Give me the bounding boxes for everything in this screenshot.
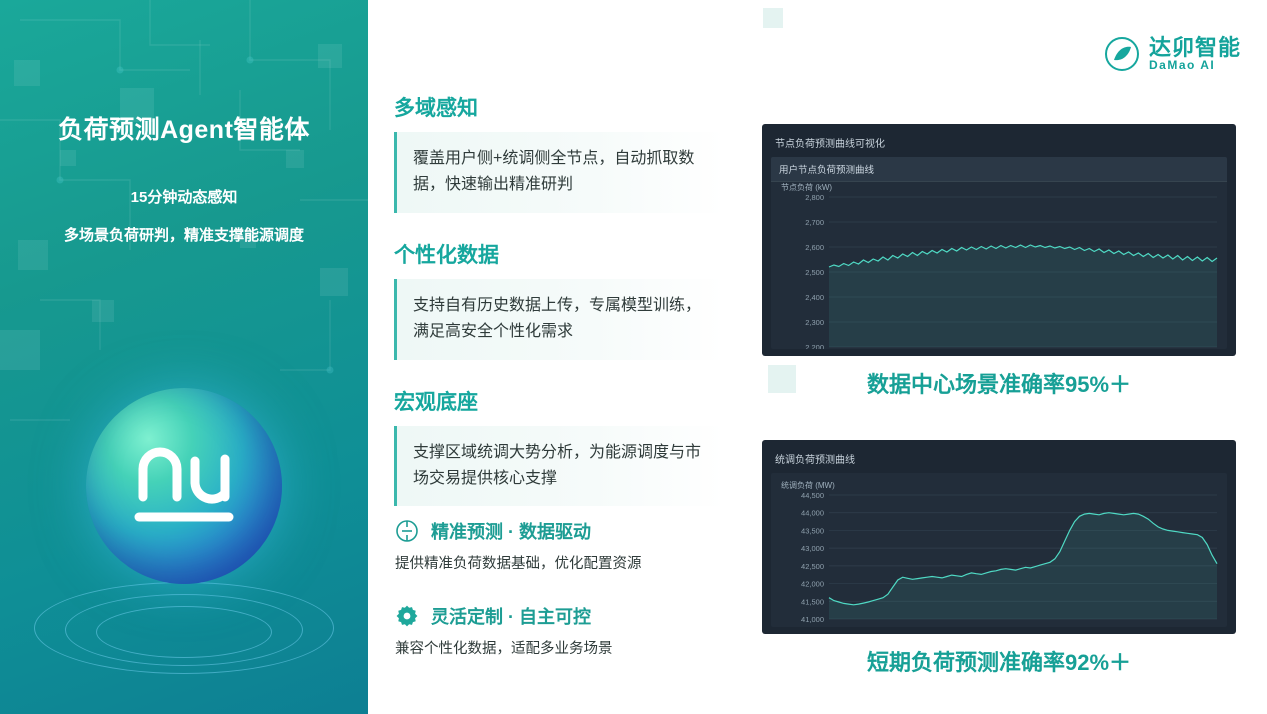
svg-text:41,500: 41,500 bbox=[801, 597, 824, 606]
chart-panel: 统调负荷 (MW)44,50044,00043,50043,00042,5004… bbox=[771, 473, 1227, 627]
bullet-desc: 兼容个性化数据，适配多业务场景 bbox=[394, 637, 734, 658]
svg-text:41,000: 41,000 bbox=[801, 615, 824, 624]
svg-text:43,500: 43,500 bbox=[801, 526, 824, 535]
feature-body: 覆盖用户侧+统调侧全节点，自动抓取数据，快速输出精准研判 bbox=[394, 132, 724, 213]
gear-icon bbox=[394, 603, 420, 629]
chart-panel: 用户节点负荷预测曲线 节点负荷 (kW)2,8002,7002,6002,500… bbox=[771, 157, 1227, 349]
svg-text:43,000: 43,000 bbox=[801, 544, 824, 553]
feature-body: 支撑区域统调大势分析，为能源调度与市场交易提供核心支撑 bbox=[394, 426, 724, 507]
feature-title: 多域感知 bbox=[394, 92, 724, 122]
bullet-title: 精准预测 · 数据驱动 bbox=[431, 518, 591, 544]
chart-caption-1: 数据中心场景准确率95%＋ bbox=[762, 367, 1236, 399]
hero-orb bbox=[34, 388, 334, 688]
svg-text:42,000: 42,000 bbox=[801, 580, 824, 589]
hero-subtitle-2: 多场景负荷研判，精准支撑能源调度 bbox=[0, 224, 368, 245]
svg-text:2,200: 2,200 bbox=[805, 343, 824, 349]
svg-text:2,500: 2,500 bbox=[805, 268, 824, 277]
svg-text:2,600: 2,600 bbox=[805, 243, 824, 252]
svg-text:44,000: 44,000 bbox=[801, 509, 824, 518]
svg-text:2,800: 2,800 bbox=[805, 193, 824, 202]
hero-subtitle-1: 15分钟动态感知 bbox=[0, 186, 368, 207]
svg-text:2,300: 2,300 bbox=[805, 318, 824, 327]
chart-title: 节点负荷预测曲线可视化 bbox=[771, 133, 1227, 157]
brand-logo: 达卯智能 DaMao AI bbox=[1104, 36, 1241, 72]
damao-logo-icon bbox=[1104, 36, 1140, 72]
bullet-desc: 提供精准负荷数据基础，优化配置资源 bbox=[394, 552, 734, 573]
svg-text:2,700: 2,700 bbox=[805, 218, 824, 227]
bullet-title: 灵活定制 · 自主可控 bbox=[431, 603, 591, 629]
hero-title: 负荷预测Agent智能体 bbox=[0, 110, 368, 146]
right-content-area: 达卯智能 DaMao AI 多域感知 覆盖用户侧+统调侧全节点，自动抓取数据，快… bbox=[368, 0, 1267, 714]
feature-title: 宏观底座 bbox=[394, 386, 724, 416]
decoration-square-top bbox=[763, 8, 783, 28]
feature-block-3: 宏观底座 支撑区域统调大势分析，为能源调度与市场交易提供核心支撑 bbox=[394, 386, 724, 507]
compass-icon bbox=[394, 518, 420, 544]
chart-card-node-load: 节点负荷预测曲线可视化 用户节点负荷预测曲线 节点负荷 (kW)2,8002,7… bbox=[762, 124, 1236, 356]
svg-text:42,500: 42,500 bbox=[801, 562, 824, 571]
line-chart-svg: 统调负荷 (MW)44,50044,00043,50043,00042,5004… bbox=[771, 477, 1227, 627]
chart-title: 统调负荷预测曲线 bbox=[771, 449, 1227, 473]
logo-text-cn: 达卯智能 bbox=[1149, 36, 1241, 59]
chart-plot-area: 统调负荷 (MW)44,50044,00043,50043,00042,5004… bbox=[771, 477, 1227, 627]
chart-plot-area: 节点负荷 (kW)2,8002,7002,6002,5002,4002,3002… bbox=[771, 179, 1227, 349]
svg-text:44,500: 44,500 bbox=[801, 491, 824, 500]
load-curve-glyph-icon bbox=[109, 431, 259, 541]
logo-text-en: DaMao AI bbox=[1149, 59, 1241, 72]
feature-title: 个性化数据 bbox=[394, 239, 724, 269]
left-hero-panel: 负荷预测Agent智能体 15分钟动态感知 多场景负荷研判，精准支撑能源调度 bbox=[0, 0, 368, 714]
feature-list: 多域感知 覆盖用户侧+统调侧全节点，自动抓取数据，快速输出精准研判 个性化数据 … bbox=[394, 92, 724, 532]
line-chart-svg: 节点负荷 (kW)2,8002,7002,6002,5002,4002,3002… bbox=[771, 179, 1227, 349]
feature-block-2: 个性化数据 支持自有历史数据上传，专属模型训练，满足高安全个性化需求 bbox=[394, 239, 724, 360]
ai-orb-icon bbox=[86, 388, 282, 584]
feature-block-1: 多域感知 覆盖用户侧+统调侧全节点，自动抓取数据，快速输出精准研判 bbox=[394, 92, 724, 213]
svg-text:2,400: 2,400 bbox=[805, 293, 824, 302]
feature-body: 支持自有历史数据上传，专属模型训练，满足高安全个性化需求 bbox=[394, 279, 724, 360]
bullet-list: 精准预测 · 数据驱动 提供精准负荷数据基础，优化配置资源 灵活定制 · 自主可… bbox=[394, 518, 734, 688]
bullet-item-2: 灵活定制 · 自主可控 bbox=[394, 603, 734, 629]
chart-caption-2: 短期负荷预测准确率92%＋ bbox=[762, 645, 1236, 677]
chart-card-grid-load: 统调负荷预测曲线 统调负荷 (MW)44,50044,00043,50043,0… bbox=[762, 440, 1236, 634]
svg-text:节点负荷 (kW): 节点负荷 (kW) bbox=[781, 182, 832, 192]
svg-text:统调负荷 (MW): 统调负荷 (MW) bbox=[781, 480, 835, 490]
bullet-item-1: 精准预测 · 数据驱动 bbox=[394, 518, 734, 544]
